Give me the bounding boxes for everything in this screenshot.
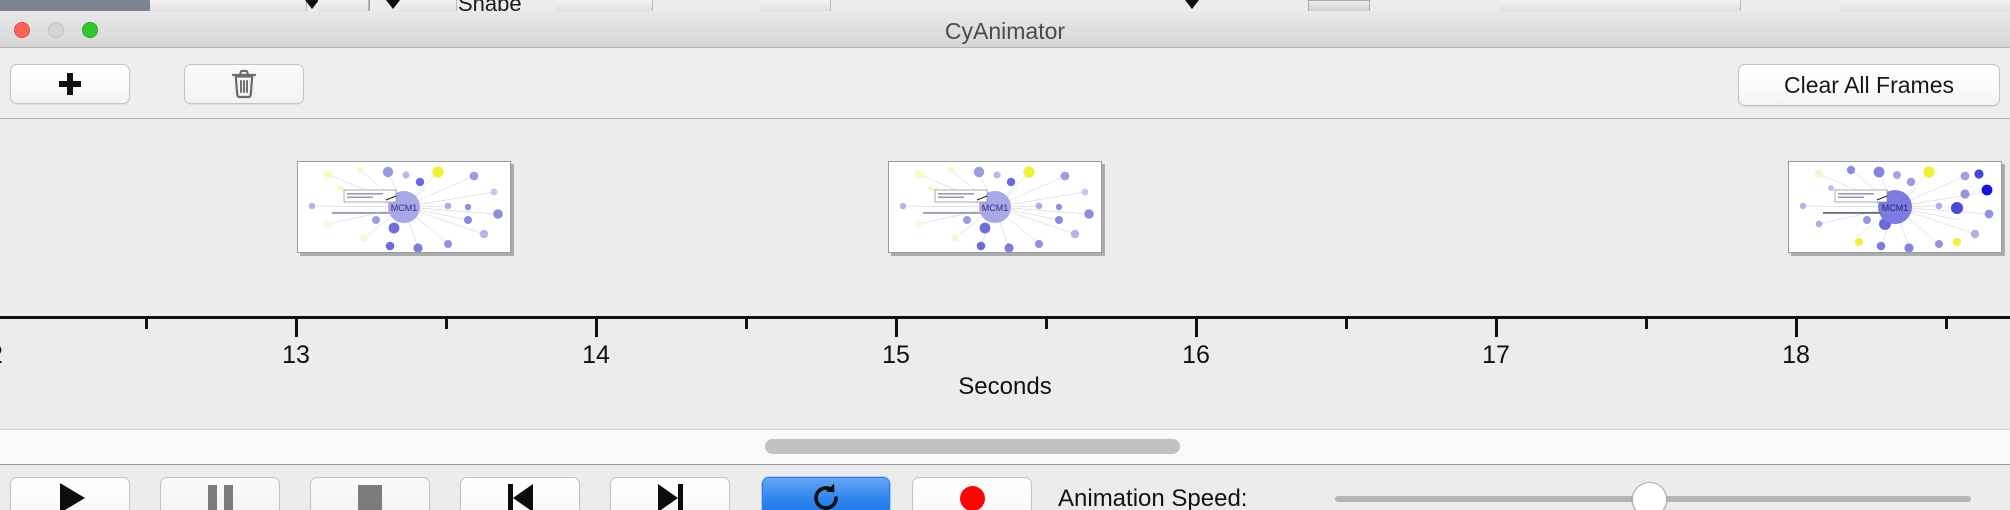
plus-icon — [58, 72, 82, 96]
axis-tick-label: 18 — [1782, 341, 1810, 370]
frame-thumbnail[interactable]: MCM1 — [1788, 161, 2002, 253]
axis-tick — [1045, 319, 1048, 329]
axis-tick — [895, 319, 898, 337]
animation-speed-slider-thumb[interactable] — [1632, 482, 1667, 510]
stop-icon — [358, 485, 382, 510]
stop-button[interactable] — [310, 477, 430, 510]
cyanimator-window: CyAnimator Clear All Frames — [0, 11, 2010, 510]
axis-tick — [1495, 319, 1498, 337]
skip-to-end-button[interactable] — [610, 477, 730, 510]
skip-to-start-icon — [508, 484, 533, 510]
play-button[interactable] — [10, 477, 130, 510]
timeline-axis — [0, 316, 2010, 319]
background-caret-icon — [305, 0, 319, 9]
axis-tick — [1195, 319, 1198, 337]
svg-text:MCM1: MCM1 — [391, 203, 418, 213]
loop-button[interactable] — [762, 477, 890, 510]
background-caret-icon-2 — [386, 0, 400, 9]
window-title: CyAnimator — [0, 18, 2010, 45]
axis-tick-label: 17 — [1482, 341, 1510, 370]
axis-tick — [745, 319, 748, 329]
timeline-scrollbar[interactable] — [0, 429, 2010, 465]
svg-text:MCM1: MCM1 — [1882, 203, 1909, 213]
record-button[interactable] — [912, 477, 1032, 510]
svg-text:MCM1: MCM1 — [982, 203, 1009, 213]
pause-icon — [208, 485, 233, 510]
axis-tick-label: 2 — [0, 341, 3, 370]
axis-tick-label: 14 — [582, 341, 610, 370]
axis-tick — [1345, 319, 1348, 329]
playback-toolbar: Animation Speed: — [0, 465, 2010, 510]
axis-tick-label: 13 — [282, 341, 310, 370]
background-caret-icon-3 — [1185, 0, 1199, 9]
axis-tick-label: 15 — [882, 341, 910, 370]
axis-tick — [145, 319, 148, 329]
frames-toolbar: Clear All Frames — [0, 48, 2010, 119]
animation-speed-label: Animation Speed: — [1058, 485, 1247, 510]
loop-refresh-icon — [809, 481, 843, 510]
play-icon — [60, 483, 85, 510]
record-icon — [960, 486, 985, 510]
axis-tick — [295, 319, 298, 337]
timeline-panel[interactable]: MCM1 — [0, 119, 2010, 429]
axis-tick — [1645, 319, 1648, 329]
scrollbar-thumb[interactable] — [765, 439, 1180, 454]
window-titlebar[interactable]: CyAnimator — [0, 11, 2010, 48]
delete-frame-button[interactable] — [184, 64, 304, 104]
clear-all-frames-label: Clear All Frames — [1784, 72, 1954, 99]
trash-icon — [231, 69, 257, 99]
skip-to-start-button[interactable] — [460, 477, 580, 510]
background-window-titlebar — [0, 0, 150, 11]
axis-tick — [1945, 319, 1948, 329]
axis-title-label: Seconds — [0, 373, 2010, 401]
axis-tick-label: 16 — [1182, 341, 1210, 370]
pause-button[interactable] — [160, 477, 280, 510]
axis-tick — [1795, 319, 1798, 337]
axis-tick — [445, 319, 448, 329]
frame-thumbnail[interactable]: MCM1 — [888, 161, 1102, 253]
clear-all-frames-button[interactable]: Clear All Frames — [1738, 64, 2000, 106]
add-frame-button[interactable] — [10, 64, 130, 104]
skip-to-end-icon — [658, 484, 683, 510]
animation-speed-slider[interactable] — [1335, 496, 1971, 502]
frame-thumbnail[interactable]: MCM1 — [297, 161, 511, 253]
axis-tick — [595, 319, 598, 337]
